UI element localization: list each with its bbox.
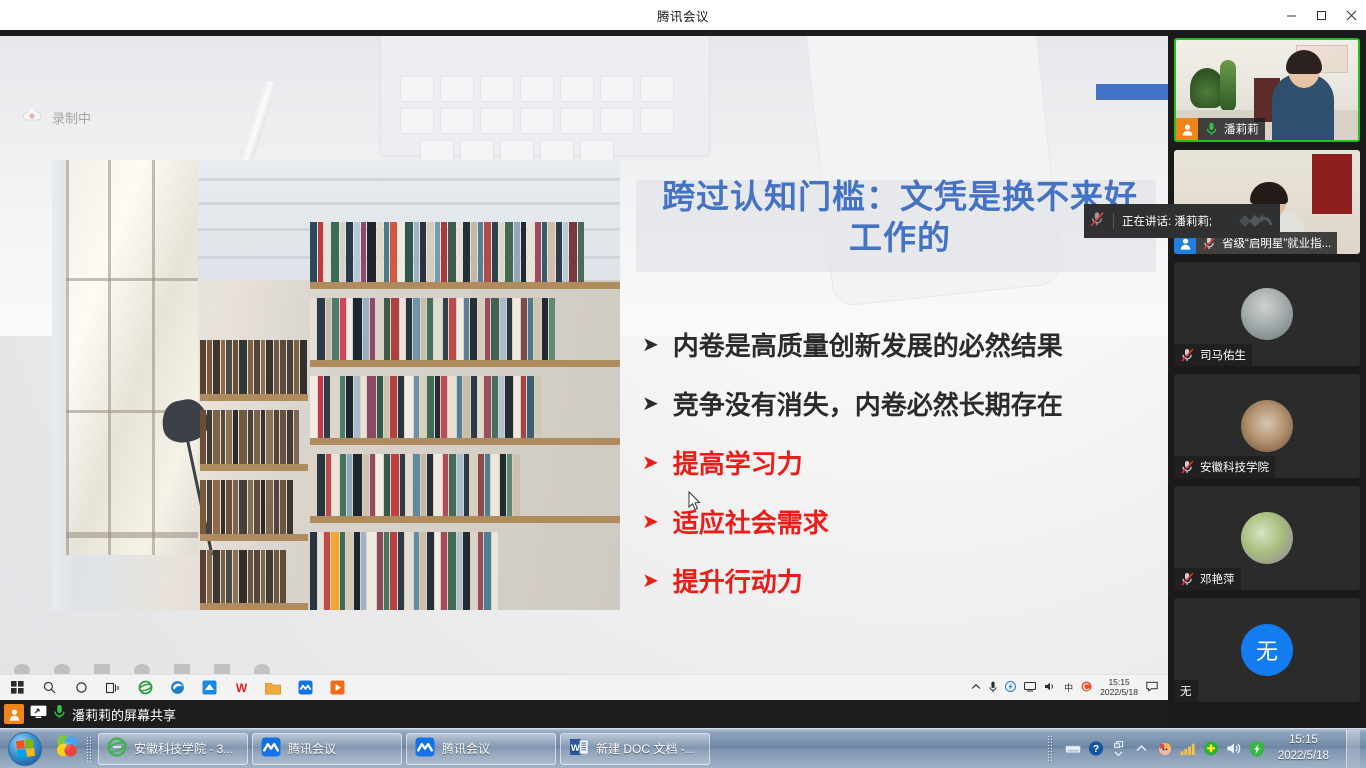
chevron-up-icon[interactable] xyxy=(1134,741,1150,757)
recording-label: 录制中 xyxy=(52,108,91,127)
show-hidden-icons-icon[interactable] xyxy=(1111,741,1127,757)
speaking-text: 正在讲话: 潘莉莉; xyxy=(1122,213,1212,229)
browser-360-quicklaunch-icon[interactable] xyxy=(54,733,80,764)
ime-indicator[interactable]: 中 xyxy=(1064,681,1073,694)
keyboard-icon[interactable] xyxy=(1065,741,1081,757)
avatar-photo xyxy=(1241,288,1293,340)
avatar-icon xyxy=(1176,118,1198,140)
participant-name: 邓艳萍 xyxy=(1200,571,1235,587)
participant-badge: 潘莉莉 xyxy=(1176,118,1265,140)
bullet-item: ➤ 提升行动力 xyxy=(642,562,1162,599)
help-icon[interactable]: ? xyxy=(1088,741,1104,757)
media-player-icon[interactable] xyxy=(328,679,346,697)
bullet-item: ➤ 内卷是高质量创新发展的必然结果 xyxy=(642,326,1162,363)
microphone-icon[interactable] xyxy=(989,681,997,695)
window-title: 腾讯会议 xyxy=(0,6,1366,25)
system-tray[interactable]: ? xyxy=(1047,729,1366,768)
taskbar-item-browser[interactable]: 安徽科技学院 - 3... xyxy=(98,733,248,765)
windows-taskbar[interactable]: 安徽科技学院 - 3... 腾讯会议 腾讯会议 xyxy=(0,728,1366,768)
divider xyxy=(1113,213,1114,229)
participant-tile[interactable]: 安徽科技学院 xyxy=(1174,374,1360,478)
arrow-bullet-icon: ➤ xyxy=(642,394,659,414)
participant-tile[interactable]: 邓艳萍 xyxy=(1174,486,1360,590)
network-icon[interactable] xyxy=(1024,681,1036,694)
participant-tile[interactable]: 司马佑生 xyxy=(1174,262,1360,366)
shared-clock-date: 2022/5/18 xyxy=(1100,688,1138,698)
shared-windows-taskbar[interactable]: W xyxy=(0,674,1168,700)
avatar-photo xyxy=(1241,400,1293,452)
tencent-meeting-icon[interactable] xyxy=(296,679,314,697)
bullet-item: ➤ 竞争没有消失，内卷必然长期存在 xyxy=(642,385,1162,422)
shared-taskbar-clock[interactable]: 15:15 2022/5/18 xyxy=(1100,678,1138,698)
slide-title: 跨过认知门槛：文凭是换不来好工作的 xyxy=(650,176,1150,259)
arrow-bullet-icon: ➤ xyxy=(642,453,659,473)
task-view-icon[interactable] xyxy=(104,679,122,697)
participant-tile[interactable]: 潘莉莉 xyxy=(1174,38,1360,142)
participant-name: 司马佑生 xyxy=(1200,347,1246,363)
participant-badge: 无 xyxy=(1174,680,1198,702)
bullet-text: 竞争没有消失，内卷必然长期存在 xyxy=(673,385,1063,422)
tencent-meeting-icon xyxy=(261,737,281,760)
recording-indicator: 录制中 xyxy=(22,108,91,127)
avatar-initial: 无 xyxy=(1241,624,1293,676)
bullet-text: 内卷是高质量创新发展的必然结果 xyxy=(673,326,1063,363)
bullet-text: 提高学习力 xyxy=(673,444,803,481)
bookshelf-right xyxy=(310,210,620,610)
mouse-cursor xyxy=(688,491,701,516)
speaking-banner: 正在讲话: 潘莉莉; xyxy=(1084,204,1280,238)
taskbar-item-label: 新建 DOC 文档 -... xyxy=(596,740,695,757)
share-owner-label: 潘莉莉的屏幕共享 xyxy=(72,705,176,724)
slide-image-library xyxy=(52,160,620,610)
svg-text:?: ? xyxy=(1093,744,1099,755)
quick-launch[interactable] xyxy=(48,733,98,764)
close-button[interactable] xyxy=(1336,0,1366,30)
microphone-on-icon xyxy=(1202,122,1220,136)
taskbar-item-tencent-meeting-2[interactable]: 腾讯会议 xyxy=(406,733,556,765)
internet-explorer-icon[interactable] xyxy=(136,679,154,697)
slide-accent-bar xyxy=(1096,84,1168,100)
microphone-muted-icon xyxy=(1090,211,1105,232)
qq-pet-icon[interactable] xyxy=(1157,741,1173,757)
participant-badge: 邓艳萍 xyxy=(1174,568,1241,590)
show-desktop-button[interactable] xyxy=(1346,730,1360,768)
taskbar-item-tencent-meeting-1[interactable]: 腾讯会议 xyxy=(252,733,402,765)
cloud-recording-icon xyxy=(22,108,42,127)
avatar-icon xyxy=(4,704,24,724)
thunder-download-icon[interactable] xyxy=(1005,681,1016,694)
participant-name: 安徽科技学院 xyxy=(1200,459,1269,475)
taskbar-item-word[interactable]: W 新建 DOC 文档 -... xyxy=(560,733,710,765)
taskbar-item-label: 腾讯会议 xyxy=(288,740,336,757)
participants-strip[interactable]: 潘莉莉 省级“启明星”就业指... xyxy=(1168,30,1366,728)
microphone-muted-icon xyxy=(1200,236,1218,250)
microphone-muted-icon xyxy=(1178,572,1196,586)
volume-icon[interactable] xyxy=(1226,741,1242,757)
participant-tile[interactable]: 省级“启明星”就业指... xyxy=(1174,150,1360,254)
bullet-text: 提升行动力 xyxy=(673,562,803,599)
signal-bars-icon[interactable] xyxy=(1180,741,1196,757)
shared-screen-area[interactable]: 录制中 xyxy=(0,30,1168,728)
taskbar-item-label: 安徽科技学院 - 3... xyxy=(134,740,233,757)
start-button[interactable] xyxy=(2,731,48,767)
foxmail-icon[interactable] xyxy=(200,679,218,697)
wps-icon[interactable]: W xyxy=(232,679,250,697)
banner-arrows[interactable] xyxy=(1236,213,1274,229)
cortana-icon[interactable] xyxy=(72,679,90,697)
arrow-bullet-icon: ➤ xyxy=(642,512,659,532)
participant-tile[interactable]: 无 无 xyxy=(1174,598,1360,702)
windows-start-icon[interactable] xyxy=(8,679,26,697)
share-owner-bar: 潘莉莉的屏幕共享 xyxy=(0,700,1168,728)
edge-icon[interactable] xyxy=(168,679,186,697)
presentation-slide: 录制中 xyxy=(0,36,1168,706)
clock-time: 15:15 xyxy=(1278,733,1329,749)
taskbar-grip[interactable] xyxy=(86,736,92,762)
participant-name: 潘莉莉 xyxy=(1224,121,1259,137)
screen-root: 腾讯会议 xyxy=(0,0,1366,768)
participant-name: 无 xyxy=(1174,683,1192,699)
arrow-bullet-icon: ➤ xyxy=(642,571,659,591)
tray-expand-icon[interactable] xyxy=(971,683,981,693)
tray-grip[interactable] xyxy=(1047,735,1054,763)
clock-date: 2022/5/18 xyxy=(1278,749,1329,765)
window-title-bar: 腾讯会议 xyxy=(0,0,1366,30)
screen-share-icon xyxy=(30,705,47,724)
tencent-meeting-icon xyxy=(415,737,435,760)
bullet-item: ➤ 适应社会需求 xyxy=(642,503,1162,540)
slide-bullet-list: ➤ 内卷是高质量创新发展的必然结果 ➤ 竞争没有消失，内卷必然长期存在 ➤ 提高… xyxy=(642,326,1162,621)
meeting-window-body: 录制中 xyxy=(0,30,1366,728)
file-explorer-icon[interactable] xyxy=(264,679,282,697)
avatar-photo xyxy=(1241,512,1293,564)
bookshelf-left xyxy=(200,332,308,610)
arrow-bullet-icon: ➤ xyxy=(642,335,659,355)
volume-icon[interactable] xyxy=(1044,681,1056,694)
search-icon[interactable] xyxy=(40,679,58,697)
taskbar-item-label: 腾讯会议 xyxy=(442,740,490,757)
maximize-button[interactable] xyxy=(1306,0,1336,30)
browser-360-icon xyxy=(107,737,127,760)
word-icon: W xyxy=(569,737,589,760)
bullet-item: ➤ 提高学习力 xyxy=(642,444,1162,481)
taskbar-clock[interactable]: 15:15 2022/5/18 xyxy=(1272,733,1335,764)
participant-badge: 司马佑生 xyxy=(1174,344,1252,366)
sogou-input-icon[interactable] xyxy=(1081,681,1092,694)
windows-logo-icon xyxy=(8,732,42,766)
microphone-active-icon xyxy=(53,704,66,724)
participant-badge: 安徽科技学院 xyxy=(1174,456,1275,478)
microphone-muted-icon xyxy=(1178,460,1196,474)
antivirus-plus-icon[interactable] xyxy=(1203,741,1219,757)
microphone-muted-icon xyxy=(1178,348,1196,362)
svg-text:W: W xyxy=(571,743,580,754)
svg-text:W: W xyxy=(235,681,247,695)
minimize-button[interactable] xyxy=(1276,0,1306,30)
security-shield-icon[interactable] xyxy=(1249,741,1265,757)
window-controls xyxy=(1276,0,1366,30)
action-center-icon[interactable] xyxy=(1146,681,1158,694)
